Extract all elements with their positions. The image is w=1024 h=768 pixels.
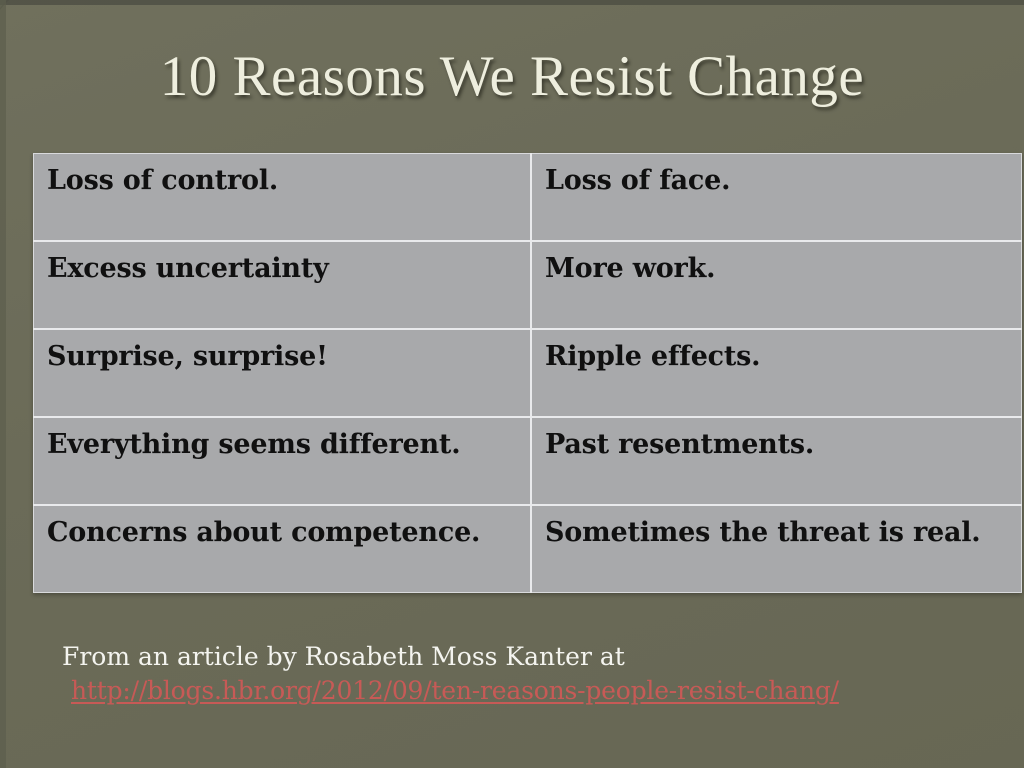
reasons-table: Loss of control. Loss of face. Excess un… (33, 153, 1022, 593)
table-row: Loss of control. Loss of face. (34, 154, 1022, 242)
table-row: Excess uncertainty More work. (34, 241, 1022, 329)
slide-top-edge (0, 0, 1024, 5)
reasons-table-body: Loss of control. Loss of face. Excess un… (34, 154, 1022, 593)
table-cell-reason: Loss of face. (531, 154, 1022, 242)
table-cell-reason: Past resentments. (531, 417, 1022, 505)
table-cell-reason: Concerns about competence. (34, 505, 532, 593)
table-row: Everything seems different. Past resentm… (34, 417, 1022, 505)
slide: 10 Reasons We Resist Change Loss of cont… (0, 0, 1024, 768)
table-row: Concerns about competence. Sometimes the… (34, 505, 1022, 593)
table-row: Surprise, surprise! Ripple effects. (34, 329, 1022, 417)
table-cell-reason: Surprise, surprise! (34, 329, 532, 417)
table-cell-reason: Excess uncertainty (34, 241, 532, 329)
slide-title: 10 Reasons We Resist Change (0, 44, 1024, 110)
table-cell-reason: Loss of control. (34, 154, 532, 242)
table-cell-reason: More work. (531, 241, 1022, 329)
footer-credit-text: From an article by Rosabeth Moss Kanter … (62, 640, 962, 674)
slide-left-edge (0, 0, 6, 768)
table-cell-reason: Ripple effects. (531, 329, 1022, 417)
table-cell-reason: Sometimes the threat is real. (531, 505, 1022, 593)
table-cell-reason: Everything seems different. (34, 417, 532, 505)
source-article-link[interactable]: http://blogs.hbr.org/2012/09/ten-reasons… (71, 675, 839, 707)
footer-attribution: From an article by Rosabeth Moss Kanter … (62, 640, 962, 707)
